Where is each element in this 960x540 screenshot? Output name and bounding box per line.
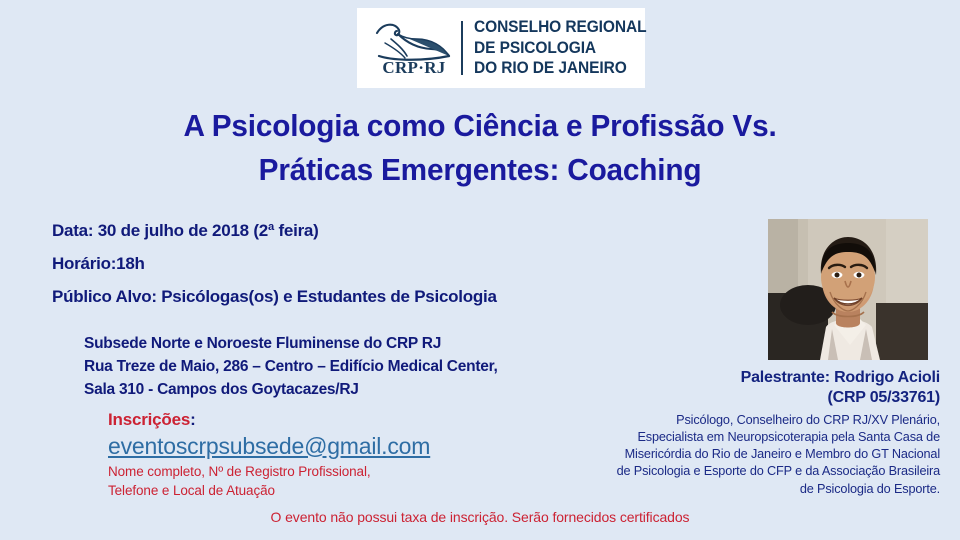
speaker-crp-number: (CRP 05/33761) [520,388,940,408]
venue-line-1: Subsede Norte e Noroeste Fluminense do C… [84,333,498,356]
speaker-bio-line-2: Especialista em Neuropsicoterapia pela S… [520,429,940,446]
logo-line-3: DO RIO DE JANEIRO [474,58,646,79]
event-title-line-1: A Psicologia como Ciência e Profissão Vs… [183,108,776,143]
footer-note: O evento não possui taxa de inscrição. S… [0,509,960,525]
event-audience: Público Alvo: Psicólogas(os) e Estudante… [52,288,497,305]
registration-email-link[interactable]: eventoscrpsubsede@gmail.com [108,433,430,459]
registration-instructions-line-1: Nome completo, Nº de Registro Profission… [108,462,430,481]
speaker-photo [768,219,928,360]
venue-line-2: Rua Treze de Maio, 286 – Centro – Edifíc… [84,356,498,379]
crp-rj-logo: CRP·RJ CONSELHO REGIONAL DE PSICOLOGIA D… [357,8,645,88]
registration-instructions: Nome completo, Nº de Registro Profission… [108,462,430,500]
registration-block: Inscrições: eventoscrpsubsede@gmail.com … [108,411,430,500]
registration-instructions-line-2: Telefone e Local de Atuação [108,481,430,500]
crp-bird-mark-icon: CRP·RJ [371,17,455,79]
logo-divider [461,21,463,75]
event-title: A Psicologia como Ciência e Profissão Vs… [19,104,941,192]
logo-wordmark: CONSELHO REGIONAL DE PSICOLOGIA DO RIO D… [474,17,646,80]
speaker-bio-line-3: Misericórdia do Rio de Janeiro e Membro … [520,446,940,463]
registration-label-colon: : [190,410,195,429]
registration-label-text: Inscrições [108,410,190,429]
venue-line-3: Sala 310 - Campos dos Goytacazes/RJ [84,379,498,402]
speaker-block: Palestrante: Rodrigo Acioli (CRP 05/3376… [520,368,940,498]
speaker-bio-line-4: de Psicologia e Esporte do CFP e da Asso… [520,463,940,480]
logo-mark-text: CRP·RJ [375,58,453,78]
event-venue-address: Subsede Norte e Noroeste Fluminense do C… [84,333,498,402]
speaker-bio-line-1: Psicólogo, Conselheiro do CRP RJ/XV Plen… [520,412,940,429]
event-details: Data: 30 de julho de 2018 (2ª feira) Hor… [52,222,497,305]
registration-label: Inscrições: [108,411,430,430]
speaker-name: Palestrante: Rodrigo Acioli (CRP 05/3376… [520,368,940,409]
speaker-name-line: Palestrante: Rodrigo Acioli [520,368,940,388]
logo-line-1: CONSELHO REGIONAL [474,17,646,38]
logo-line-2: DE PSICOLOGIA [474,38,646,59]
speaker-bio: Psicólogo, Conselheiro do CRP RJ/XV Plen… [520,412,940,498]
speaker-bio-line-5: de Psicologia do Esporte. [520,481,940,498]
event-poster: CRP·RJ CONSELHO REGIONAL DE PSICOLOGIA D… [0,0,960,540]
event-time: Horário:18h [52,255,497,272]
event-date: Data: 30 de julho de 2018 (2ª feira) [52,222,497,239]
event-title-line-2: Práticas Emergentes: Coaching [19,148,941,192]
